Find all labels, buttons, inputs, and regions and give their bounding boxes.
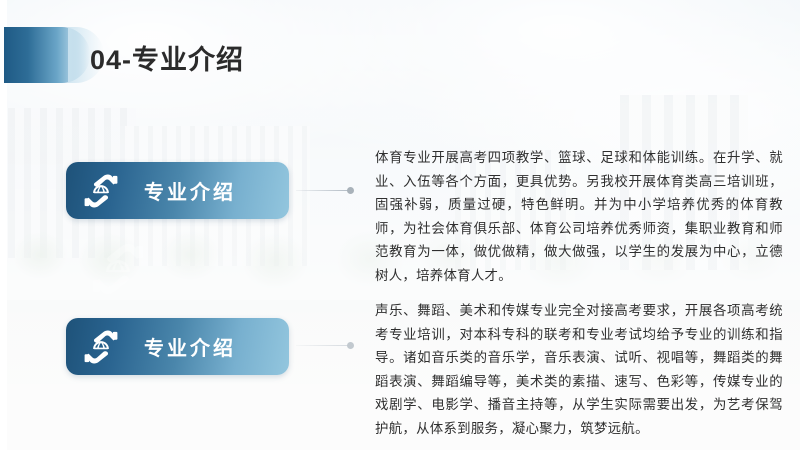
pill-button-major-intro-1[interactable]: 专业介绍	[66, 162, 289, 219]
slide-canvas: 04-专业介绍	[0, 0, 800, 450]
connector-dot-1	[347, 187, 354, 194]
paragraph-2: 声乐、舞蹈、美术和传媒专业完全对接高考要求，开展各项高考统考专业培训，对本科专科…	[375, 299, 783, 440]
connector-line-1	[296, 190, 348, 191]
pill-button-major-intro-2[interactable]: 专业介绍	[66, 318, 289, 375]
pill-button-label: 专业介绍	[144, 176, 236, 205]
content-text-column: 体育专业开展高考四项教学、篮球、足球和体能训练。在升学、就业、入伍等各个方面，更…	[375, 146, 783, 440]
pill-button-label: 专业介绍	[144, 332, 236, 361]
hands-holding-globe-icon	[80, 171, 122, 211]
paragraph-1: 体育专业开展高考四项教学、篮球、足球和体能训练。在升学、就业、入伍等各个方面，更…	[375, 146, 783, 287]
connector-line-2	[296, 345, 348, 346]
hands-holding-globe-icon	[80, 327, 122, 367]
connector-dot-2	[347, 342, 354, 349]
page-title: 04-专业介绍	[90, 38, 244, 77]
hands-holding-globe-icon	[86, 240, 150, 298]
